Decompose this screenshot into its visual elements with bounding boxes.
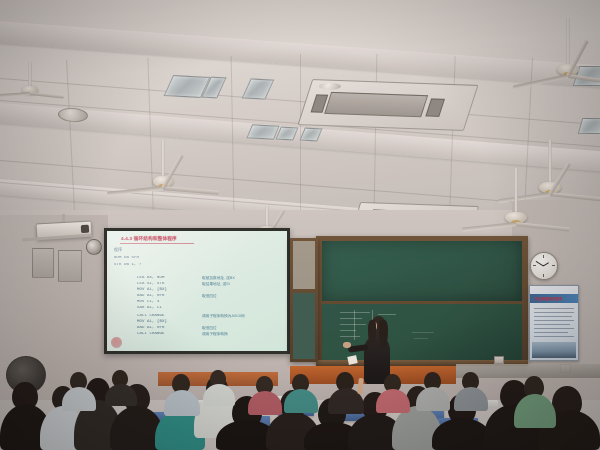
slide-code-instr: SAR AL, CL bbox=[137, 306, 162, 310]
fluorescent-light-panel bbox=[578, 118, 600, 134]
teacher bbox=[356, 312, 402, 384]
security-camera-icon bbox=[86, 239, 102, 255]
slide-code-instr: MOV AL, [BX] bbox=[137, 320, 167, 324]
slide-code-instr: CALL CHANGE bbox=[137, 332, 165, 336]
projection-screen: 4.4.3 循环结构和整体程序 程序 NUM DB 5FH STR DB 1, … bbox=[107, 231, 287, 351]
slide-data-line: NUM DB 5FH bbox=[114, 256, 139, 260]
blackboard-side-panel bbox=[293, 241, 315, 289]
wall-clock bbox=[530, 252, 558, 280]
fluorescent-light-panel bbox=[246, 124, 279, 139]
slide-code-comment: 取被加数地址, 送BX bbox=[202, 276, 235, 281]
slide-code-instr: LEA BX, NUM bbox=[137, 276, 165, 280]
clock-hour-hand bbox=[544, 262, 550, 266]
ceiling-fan bbox=[538, 18, 598, 88]
slide-code-instr: AND AL, 0FH bbox=[137, 294, 165, 298]
slide-code-comment: 取结果地址, 送SI bbox=[202, 282, 230, 287]
wall-poster: 安全用电知识宣传 bbox=[529, 285, 579, 361]
slide-watermark bbox=[111, 337, 122, 348]
teacher-hand bbox=[343, 342, 351, 348]
slide-code-instr: MOV CL, 4 bbox=[137, 300, 160, 304]
slide-code-instr: LEA SI, STR bbox=[137, 282, 165, 286]
wall-speaker bbox=[58, 250, 82, 282]
blackboard-side-panel bbox=[293, 293, 315, 359]
ceiling-fan bbox=[128, 140, 198, 206]
ceiling-fan bbox=[8, 62, 52, 108]
chalk-writing bbox=[412, 332, 434, 333]
slide-code-instr: CALL CHANGE bbox=[137, 314, 165, 318]
chalk-writing bbox=[414, 338, 428, 339]
slide-code-comment: 调用子程序转换 bbox=[202, 332, 228, 337]
slide-title: 4.4.3 循环结构和整体程序 bbox=[121, 236, 177, 242]
slide-code-comment: 取低四位 bbox=[202, 294, 217, 299]
wall-outlet bbox=[494, 356, 504, 364]
wall-speaker bbox=[32, 248, 54, 278]
blackboard-upper-panel bbox=[322, 241, 522, 301]
slide-code-instr: AND AL, 0FH bbox=[137, 326, 165, 330]
slide-code-comment: 取低四位 bbox=[202, 326, 217, 331]
slide-data-line: STR DB 1, ? bbox=[114, 263, 142, 267]
poster-photo bbox=[532, 342, 576, 358]
slide-code-comment: 调用子程序转换为ASCII码 bbox=[202, 314, 245, 319]
fluorescent-light-panel bbox=[242, 78, 275, 99]
ceiling-fan bbox=[484, 168, 548, 234]
slide-code-instr: MOV AL, [BX] bbox=[137, 288, 167, 292]
classroom-photo: 4.4.3 循环结构和整体程序 程序 NUM DB 5FH STR DB 1, … bbox=[0, 0, 600, 450]
cassette-air-conditioner bbox=[297, 79, 478, 131]
poster-title: 安全用电知识宣传 bbox=[535, 296, 562, 301]
slide-section-label: 程序 bbox=[114, 247, 122, 253]
student-shoulders bbox=[432, 418, 492, 450]
chalk-writing bbox=[354, 310, 355, 340]
